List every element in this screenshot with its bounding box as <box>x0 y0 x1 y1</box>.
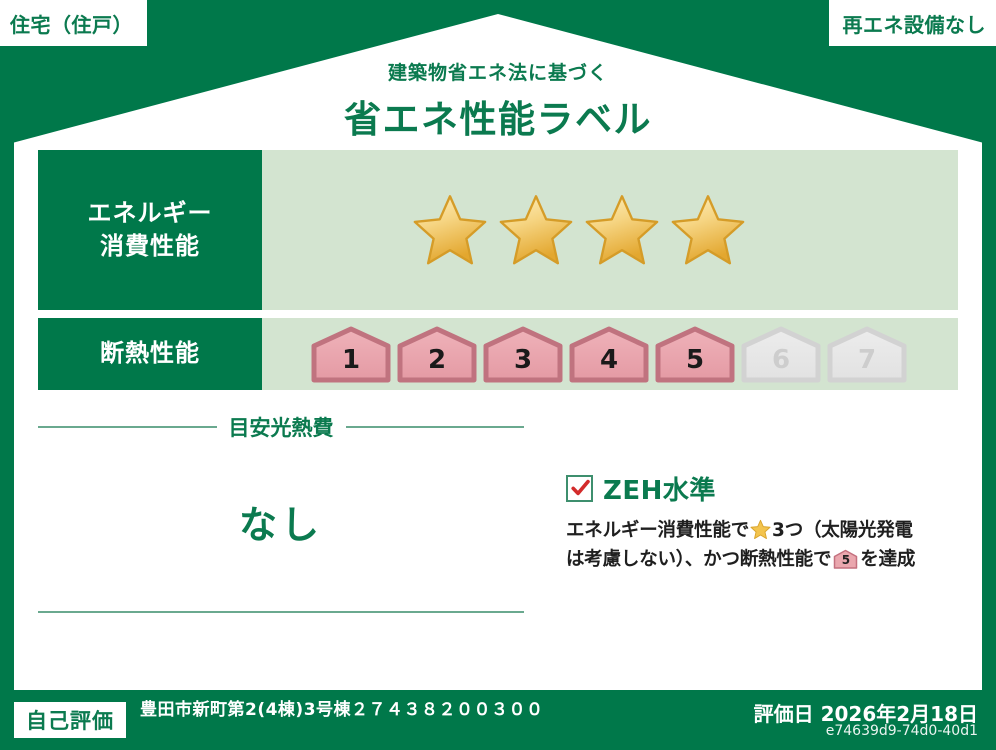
footer: 自己評価 豊田市新町第2(4棟)3号棟２７４３８２００３００ 評価日 2026年… <box>0 690 996 750</box>
insulation-level-value: 4 <box>568 324 650 384</box>
insulation-level-6: 6 <box>740 324 822 384</box>
insulation-level-1: 1 <box>310 324 392 384</box>
utility-cost-title: 目安光熱費 <box>217 412 346 442</box>
zeh-block: ZEH水準 エネルギー消費性能で 3つ（太陽光発電 は考慮しない）、かつ断熱性能… <box>566 470 986 574</box>
utility-cost-value: なし <box>38 494 524 549</box>
insulation-level-badge: 5 <box>833 549 858 569</box>
insulation-level-2: 2 <box>396 324 478 384</box>
page-title: 建築物省エネ法に基づく 省エネ性能ラベル <box>0 58 996 143</box>
utility-cost-header: 目安光熱費 <box>38 412 524 442</box>
rule-left <box>38 426 217 428</box>
energy-performance-row: エネルギー 消費性能 <box>38 150 958 310</box>
zeh-desc-part4: を達成 <box>860 549 915 570</box>
title-main: 省エネ性能ラベル <box>0 89 996 143</box>
zeh-checkbox[interactable] <box>566 475 593 502</box>
zeh-desc-part1: エネルギー消費性能で <box>566 520 749 541</box>
energy-label-line2: 消費性能 <box>100 230 200 263</box>
insulation-level-value: 5 <box>654 324 736 384</box>
insulation-level-3: 3 <box>482 324 564 384</box>
zeh-description: エネルギー消費性能で 3つ（太陽光発電 は考慮しない）、かつ断熱性能で 5 を達… <box>566 517 986 574</box>
insulation-performance-value: 1234567 <box>262 318 958 390</box>
insulation-level-5: 5 <box>654 324 736 384</box>
energy-performance-label: エネルギー 消費性能 <box>38 150 262 310</box>
star-icon <box>750 519 771 540</box>
insulation-performance-row: 断熱性能 1234567 <box>38 318 958 390</box>
energy-performance-value <box>262 150 958 310</box>
property-address: 豊田市新町第2(4棟)3号棟２７４３８２００３００ <box>140 700 680 721</box>
insulation-level-value: 2 <box>396 324 478 384</box>
insulation-level-value: 3 <box>482 324 564 384</box>
renewable-energy-tag: 再エネ設備なし <box>829 0 996 46</box>
zeh-header: ZEH水準 <box>566 470 986 507</box>
zeh-desc-part3: は考慮しない）、かつ断熱性能で <box>566 549 831 570</box>
rating-rows: エネルギー 消費性能 断熱性能 1234567 <box>38 150 958 398</box>
evaluation-type-badge: 自己評価 <box>14 702 126 738</box>
insulation-level-value: 6 <box>740 324 822 384</box>
insulation-level-7: 7 <box>826 324 908 384</box>
star-icon <box>412 192 488 268</box>
utility-cost-bottom-rule <box>38 611 524 613</box>
insulation-performance-label: 断熱性能 <box>38 318 262 390</box>
title-subtitle: 建築物省エネ法に基づく <box>0 58 996 85</box>
star-icon <box>498 192 574 268</box>
insulation-level-value: 7 <box>826 324 908 384</box>
insulation-scale: 1234567 <box>262 324 908 384</box>
zeh-desc-part2: 3つ（太陽光発電 <box>772 520 913 541</box>
energy-label-line1: エネルギー <box>88 197 213 230</box>
insulation-level-4: 4 <box>568 324 650 384</box>
star-icon <box>670 192 746 268</box>
insulation-level-value: 1 <box>310 324 392 384</box>
star-icon <box>584 192 660 268</box>
insulation-level-badge-value: 5 <box>833 549 858 569</box>
lower-section: 目安光熱費 なし ZEH水準 エネルギー消費性能で 3つ（太陽光発電 は考慮しな… <box>38 412 958 613</box>
building-type-tag: 住宅（住戸） <box>0 0 147 46</box>
rule-right <box>346 426 525 428</box>
star-rating <box>262 192 746 268</box>
zeh-title: ZEH水準 <box>603 470 716 507</box>
evaluation-id: e74639d9-74d0-40d1 <box>826 723 978 739</box>
